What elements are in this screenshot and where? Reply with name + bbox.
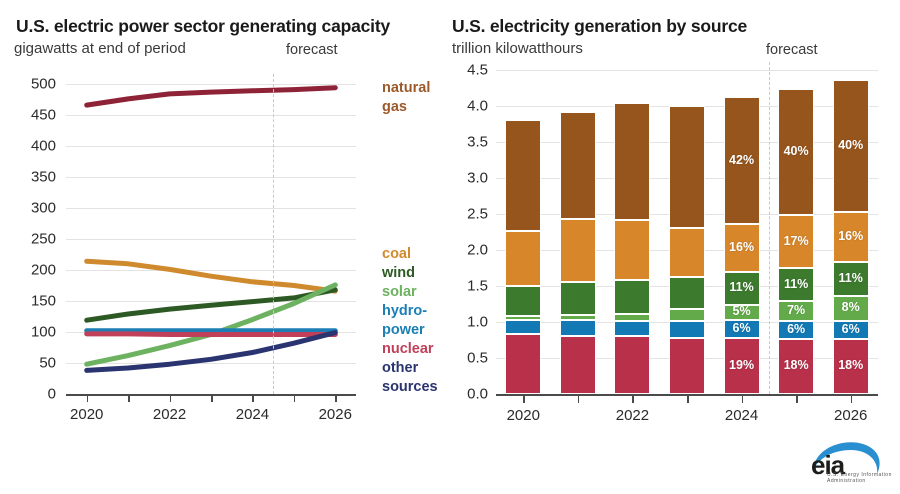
x-tick-label: 2022: [140, 406, 200, 423]
x-tick-mark: [742, 396, 744, 403]
legend-item-coal: coal: [382, 246, 411, 263]
bar-percent-label: 8%: [833, 300, 869, 314]
x-tick-label: 2020: [488, 407, 558, 424]
y-tick-label: 300: [31, 200, 56, 217]
legend-item-wind: wind: [382, 265, 415, 282]
y-tick-label: 4.0: [467, 98, 488, 115]
bar-segment-natural-gas: [669, 106, 705, 228]
x-tick-label: 2020: [57, 406, 117, 423]
bar-percent-label: 11%: [778, 277, 814, 291]
x-tick-label: 2022: [597, 407, 667, 424]
x-tick-label: 2024: [222, 406, 282, 423]
bar-segment-solar: [505, 316, 541, 320]
x-tick-mark: [128, 396, 130, 402]
right-chart-panel: U.S. electricity generation by source tr…: [450, 0, 900, 494]
legend-item-nuclear: nuclear: [382, 341, 434, 358]
eia-logo-subtext: U.S. Energy Information Administration: [827, 472, 895, 484]
bar-segment-wind: [560, 282, 596, 314]
legend-item-gas: gas: [382, 99, 407, 116]
x-tick-mark: [211, 396, 213, 402]
x-tick-mark: [252, 396, 254, 402]
left-forecast-label: forecast: [286, 42, 338, 58]
x-tick-mark: [87, 396, 89, 402]
y-tick-label: 4.5: [467, 62, 488, 79]
bar-percent-label: 5%: [724, 304, 760, 318]
line-other-sources: [87, 333, 336, 371]
bar-percent-label: 6%: [833, 322, 869, 336]
infographic-root: U.S. electric power sector generating ca…: [0, 0, 900, 494]
bar-percent-label: 42%: [724, 153, 760, 167]
bar-segment-hydropower: [560, 320, 596, 336]
bar-percent-label: 6%: [778, 322, 814, 336]
x-tick-label: 2026: [816, 407, 886, 424]
y-tick-label: 150: [31, 293, 56, 310]
bar-segment-coal: [614, 220, 650, 280]
bar-segment-wind: [669, 277, 705, 309]
bar-segment-coal: [669, 228, 705, 277]
x-tick-mark: [632, 396, 634, 403]
x-tick-label: 2026: [305, 406, 365, 423]
bar-segment-natural-gas: [505, 120, 541, 230]
x-tick-label: 2024: [707, 407, 777, 424]
x-tick-mark: [851, 396, 853, 403]
bar-segment-nuclear: [669, 338, 705, 394]
bar-segment-nuclear: [614, 336, 650, 394]
bar-segment-nuclear: [505, 334, 541, 394]
bar-segment-solar: [669, 309, 705, 321]
bar-segment-wind: [614, 280, 650, 314]
bar-segment-solar: [560, 315, 596, 320]
legend-item-hydro: hydro-: [382, 303, 427, 320]
x-tick-mark: [687, 396, 689, 403]
bar-percent-label: 40%: [778, 144, 814, 158]
y-tick-label: 400: [31, 138, 56, 155]
bar-segment-coal: [505, 231, 541, 286]
y-tick-label: 2.0: [467, 242, 488, 259]
bar-segment-hydropower: [614, 321, 650, 336]
right-bar-series: 19%6%5%11%16%42%18%6%7%11%17%40%18%6%8%1…: [496, 70, 878, 394]
x-tick-mark: [335, 396, 337, 402]
legend-item-natural: natural: [382, 80, 430, 97]
line-nuclear: [87, 334, 336, 335]
bar-percent-label: 18%: [833, 358, 869, 372]
y-tick-label: 3.0: [467, 170, 488, 187]
bar-percent-label: 6%: [724, 321, 760, 335]
y-tick-label: 100: [31, 324, 56, 341]
right-forecast-label: forecast: [766, 42, 818, 58]
bar-percent-label: 11%: [833, 271, 869, 285]
x-tick-mark: [523, 396, 525, 403]
y-tick-label: 0.0: [467, 386, 488, 403]
y-tick-label: 50: [39, 355, 56, 372]
x-tick-mark: [294, 396, 296, 402]
forecast-divider: [769, 62, 770, 394]
bar-percent-label: 40%: [833, 138, 869, 152]
legend-item-solar: solar: [382, 284, 417, 301]
bar-percent-label: 16%: [724, 240, 760, 254]
bar-percent-label: 19%: [724, 358, 760, 372]
legend-item-power: power: [382, 322, 425, 339]
y-tick-label: 500: [31, 76, 56, 93]
bar-segment-coal: [560, 219, 596, 282]
y-tick-label: 200: [31, 262, 56, 279]
bar-percent-label: 16%: [833, 229, 869, 243]
line-natural-gas: [87, 88, 336, 105]
bar-segment-natural-gas: [614, 103, 650, 220]
y-tick-label: 250: [31, 231, 56, 248]
y-tick-label: 0.5: [467, 350, 488, 367]
bar-segment-hydropower: [669, 321, 705, 338]
line-coal: [87, 261, 336, 291]
bar-segment-hydropower: [505, 320, 541, 334]
eia-logo: eia U.S. Energy Information Administrati…: [805, 436, 895, 484]
y-tick-label: 0: [48, 386, 56, 403]
x-tick-mark: [170, 396, 172, 402]
left-chart-title: U.S. electric power sector generating ca…: [16, 16, 390, 37]
x-tick-mark: [796, 396, 798, 403]
y-tick-label: 2.5: [467, 206, 488, 223]
y-tick-label: 1.0: [467, 314, 488, 331]
right-chart-title: U.S. electricity generation by source: [452, 16, 747, 37]
bar-segment-wind: [505, 286, 541, 316]
x-tick-mark: [578, 396, 580, 403]
left-chart-panel: U.S. electric power sector generating ca…: [0, 0, 450, 494]
y-tick-label: 1.5: [467, 278, 488, 295]
left-chart-subtitle: gigawatts at end of period: [14, 40, 186, 57]
bar-segment-nuclear: [560, 336, 596, 394]
bar-percent-label: 18%: [778, 358, 814, 372]
y-tick-label: 3.5: [467, 134, 488, 151]
y-tick-label: 450: [31, 107, 56, 124]
line-wind: [87, 290, 336, 320]
legend-item-sources: sources: [382, 379, 438, 396]
bar-percent-label: 11%: [724, 280, 760, 294]
legend-item-other: other: [382, 360, 418, 377]
bar-percent-label: 7%: [778, 303, 814, 317]
bar-segment-solar: [614, 314, 650, 321]
bar-percent-label: 17%: [778, 234, 814, 248]
right-chart-subtitle: trillion kilowatthours: [452, 40, 583, 57]
left-line-series: [66, 84, 356, 394]
forecast-divider: [273, 74, 274, 394]
y-tick-label: 350: [31, 169, 56, 186]
bar-segment-natural-gas: [560, 112, 596, 219]
